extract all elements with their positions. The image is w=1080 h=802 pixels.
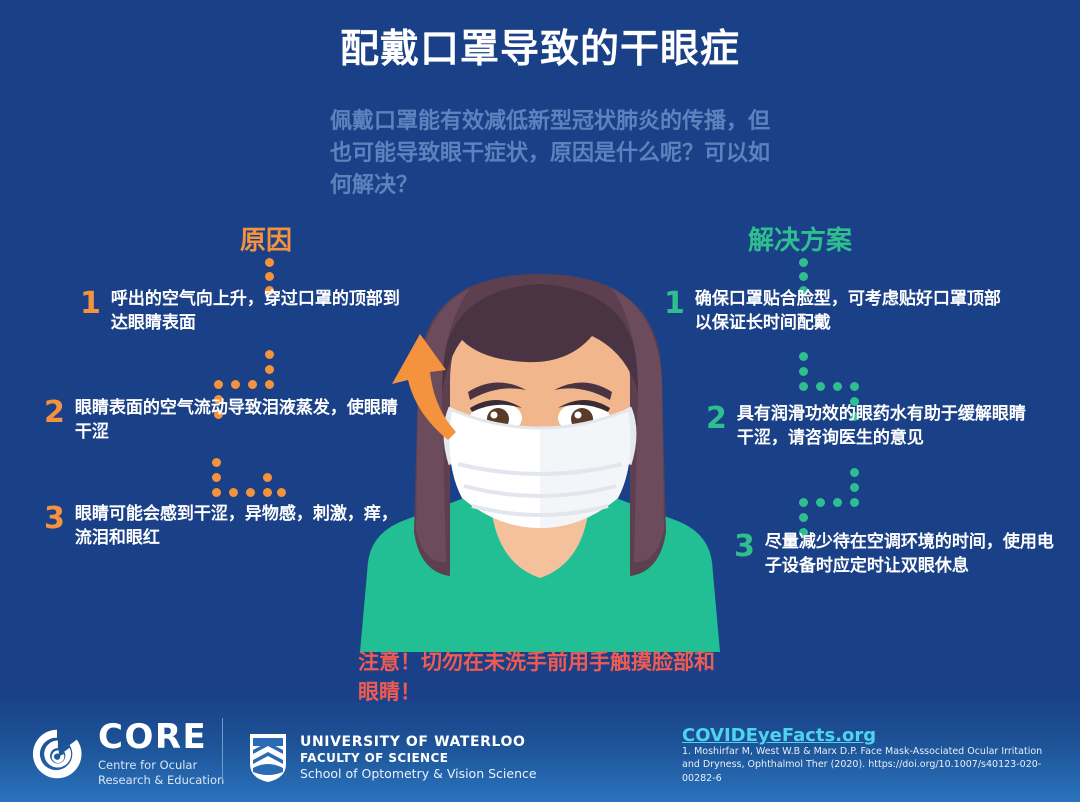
connector-dot (799, 258, 808, 267)
connector-dot (850, 382, 859, 391)
connector-dot (212, 458, 221, 467)
waterloo-line-3: School of Optometry & Vision Science (300, 766, 537, 782)
solution-item-3-text: 尽量减少待在空调环境的时间，使用电子设备时应定时让双眼休息 (765, 530, 1054, 578)
connector-dot (214, 380, 223, 389)
cause-item-2-number: 2 (44, 396, 65, 428)
connector-dot (850, 468, 859, 477)
connector-dot (231, 380, 240, 389)
core-name: CORE (98, 720, 224, 754)
connector-dot (799, 367, 808, 376)
waterloo-line-1: UNIVERSITY OF WATERLOO (300, 734, 537, 752)
connector-dot (799, 382, 808, 391)
connector-dot (212, 473, 221, 482)
page-subtitle: 佩戴口罩能有效减低新型冠状肺炎的传播，但也可能导致眼干症状，原因是什么呢？可以如… (330, 106, 770, 202)
connector-dot (799, 498, 808, 507)
connector-dot (265, 272, 274, 281)
footer-divider (222, 718, 223, 780)
cause-item-2: 2 眼睛表面的空气流动导致泪液蒸发，使眼睛干涩 (44, 396, 410, 444)
waterloo-shield-icon (248, 732, 288, 784)
connector-dot (799, 352, 808, 361)
citation-reference: 1. Moshirfar M, West W.B & Marx D.P. Fac… (682, 745, 1062, 786)
solution-item-2: 2 具有润滑功效的眼药水有助于缓解眼睛干涩，请咨询医生的意见 (706, 402, 1036, 450)
page-title: 配戴口罩导致的干眼症 (0, 18, 1080, 74)
solution-item-1-number: 1 (664, 287, 685, 319)
waterloo-wordmark: UNIVERSITY OF WATERLOO FACULTY OF SCIENC… (300, 734, 537, 783)
solution-item-2-number: 2 (706, 402, 727, 434)
connector-dot (265, 365, 274, 374)
connector-dot (248, 380, 257, 389)
connector-dot (833, 382, 842, 391)
cause-item-1-text: 呼出的空气向上升，穿过口罩的顶部到达眼睛表面 (111, 287, 410, 335)
connector-dot (833, 498, 842, 507)
warning-text: 注意！切勿在未洗手前用手触摸脸部和眼睛！ (358, 648, 718, 708)
connector-dot (212, 488, 221, 497)
solution-item-2-text: 具有润滑功效的眼药水有助于缓解眼睛干涩，请咨询医生的意见 (737, 402, 1036, 450)
core-logo: CORE Centre for Ocular Research & Educat… (30, 720, 224, 788)
cause-item-3: 3 眼睛可能会感到干涩，异物感，刺激，痒，流泪和眼红 (44, 502, 410, 550)
connector-dot (263, 488, 272, 497)
connector-dot (850, 498, 859, 507)
cause-item-1-number: 1 (80, 287, 101, 319)
connector-dot (265, 380, 274, 389)
connector-dot (277, 488, 286, 497)
cause-item-1: 1 呼出的空气向上升，穿过口罩的顶部到达眼睛表面 (80, 287, 410, 335)
university-of-waterloo-logo: UNIVERSITY OF WATERLOO FACULTY OF SCIENC… (248, 732, 537, 784)
core-mark-icon (30, 727, 84, 781)
connector-dot (816, 382, 825, 391)
core-tagline-line-1: Centre for Ocular (98, 758, 224, 773)
connector-dot (265, 258, 274, 267)
infographic-poster: 配戴口罩导致的干眼症 佩戴口罩能有效减低新型冠状肺炎的传播，但也可能导致眼干症状… (0, 0, 1080, 802)
core-tagline-line-2: Research & Education (98, 773, 224, 788)
connector-dot (229, 488, 238, 497)
cause-item-3-number: 3 (44, 502, 65, 534)
core-wordmark: CORE Centre for Ocular Research & Educat… (98, 720, 224, 788)
causes-heading: 原因 (240, 220, 292, 257)
cause-item-3-text: 眼睛可能会感到干涩，异物感，刺激，痒，流泪和眼红 (75, 502, 410, 550)
cause-item-2-text: 眼睛表面的空气流动导致泪液蒸发，使眼睛干涩 (75, 396, 410, 444)
connector-dot (799, 272, 808, 281)
covideyefacts-link[interactable]: COVIDEyeFacts.org (682, 725, 876, 746)
connector-dot (265, 350, 274, 359)
core-tagline: Centre for Ocular Research & Education (98, 758, 224, 788)
solution-item-1: 1 确保口罩贴合脸型，可考虑贴好口罩顶部以保证长时间配戴 (664, 287, 1004, 335)
connector-dot (799, 513, 808, 522)
connector-dot (246, 488, 255, 497)
solution-item-3: 3 尽量减少待在空调环境的时间，使用电子设备时应定时让双眼休息 (734, 530, 1054, 578)
waterloo-line-2: FACULTY OF SCIENCE (300, 751, 537, 766)
solutions-heading: 解决方案 (748, 220, 852, 257)
solution-item-1-text: 确保口罩贴合脸型，可考虑贴好口罩顶部以保证长时间配戴 (695, 287, 1004, 335)
connector-dot (263, 473, 272, 482)
connector-dot (850, 483, 859, 492)
solution-item-3-number: 3 (734, 530, 755, 562)
connector-dot (816, 498, 825, 507)
